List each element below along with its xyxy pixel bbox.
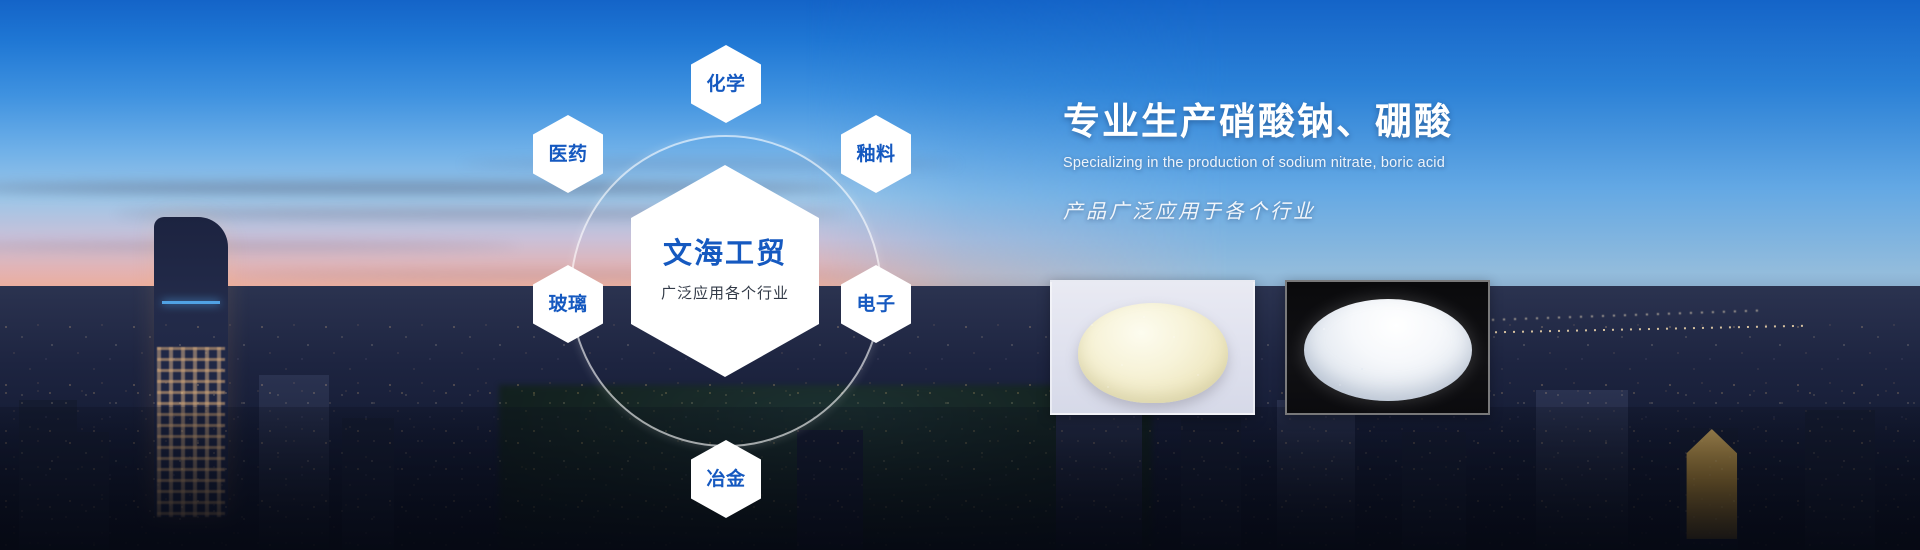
- hex-node-label: 玻璃: [548, 295, 587, 314]
- hex-node-label: 化学: [706, 75, 745, 94]
- brand-subtitle: 广泛应用各个行业: [661, 282, 789, 303]
- hex-node-label: 釉料: [856, 145, 895, 164]
- hex-node-metallurgy[interactable]: 冶金: [691, 440, 761, 518]
- industry-hexagon-diagram: 化学 釉料 电子 冶金 玻璃 医药 文海工贸 广泛应用各个行业: [0, 0, 960, 550]
- promotional-banner: 化学 釉料 电子 冶金 玻璃 医药 文海工贸 广泛应用各个行业 专业生产硝酸钠、…: [0, 0, 1920, 550]
- brand-name: 文海工贸: [663, 239, 787, 271]
- hex-node-label: 电子: [856, 295, 895, 314]
- headline-chinese: 专业生产硝酸钠、硼酸: [1063, 100, 1843, 144]
- product-photo-sodium-nitrate[interactable]: [1050, 280, 1255, 415]
- hex-node-chemical[interactable]: 化学: [691, 45, 761, 123]
- hex-node-label: 冶金: [706, 470, 745, 489]
- headline-english: Specializing in the production of sodium…: [1063, 155, 1843, 171]
- powder-heap: [1304, 299, 1472, 401]
- product-photo-row: [1050, 280, 1490, 415]
- powder-heap: [1078, 303, 1228, 403]
- hex-node-glaze[interactable]: 釉料: [841, 115, 911, 193]
- hex-node-pharmaceutical[interactable]: 医药: [533, 115, 603, 193]
- hex-node-label: 医药: [548, 145, 587, 164]
- product-photo-boric-acid[interactable]: [1285, 280, 1490, 415]
- banner-copy: 专业生产硝酸钠、硼酸 Specializing in the productio…: [1063, 100, 1843, 224]
- tagline-chinese: 产品广泛应用于各个行业: [1063, 195, 1843, 224]
